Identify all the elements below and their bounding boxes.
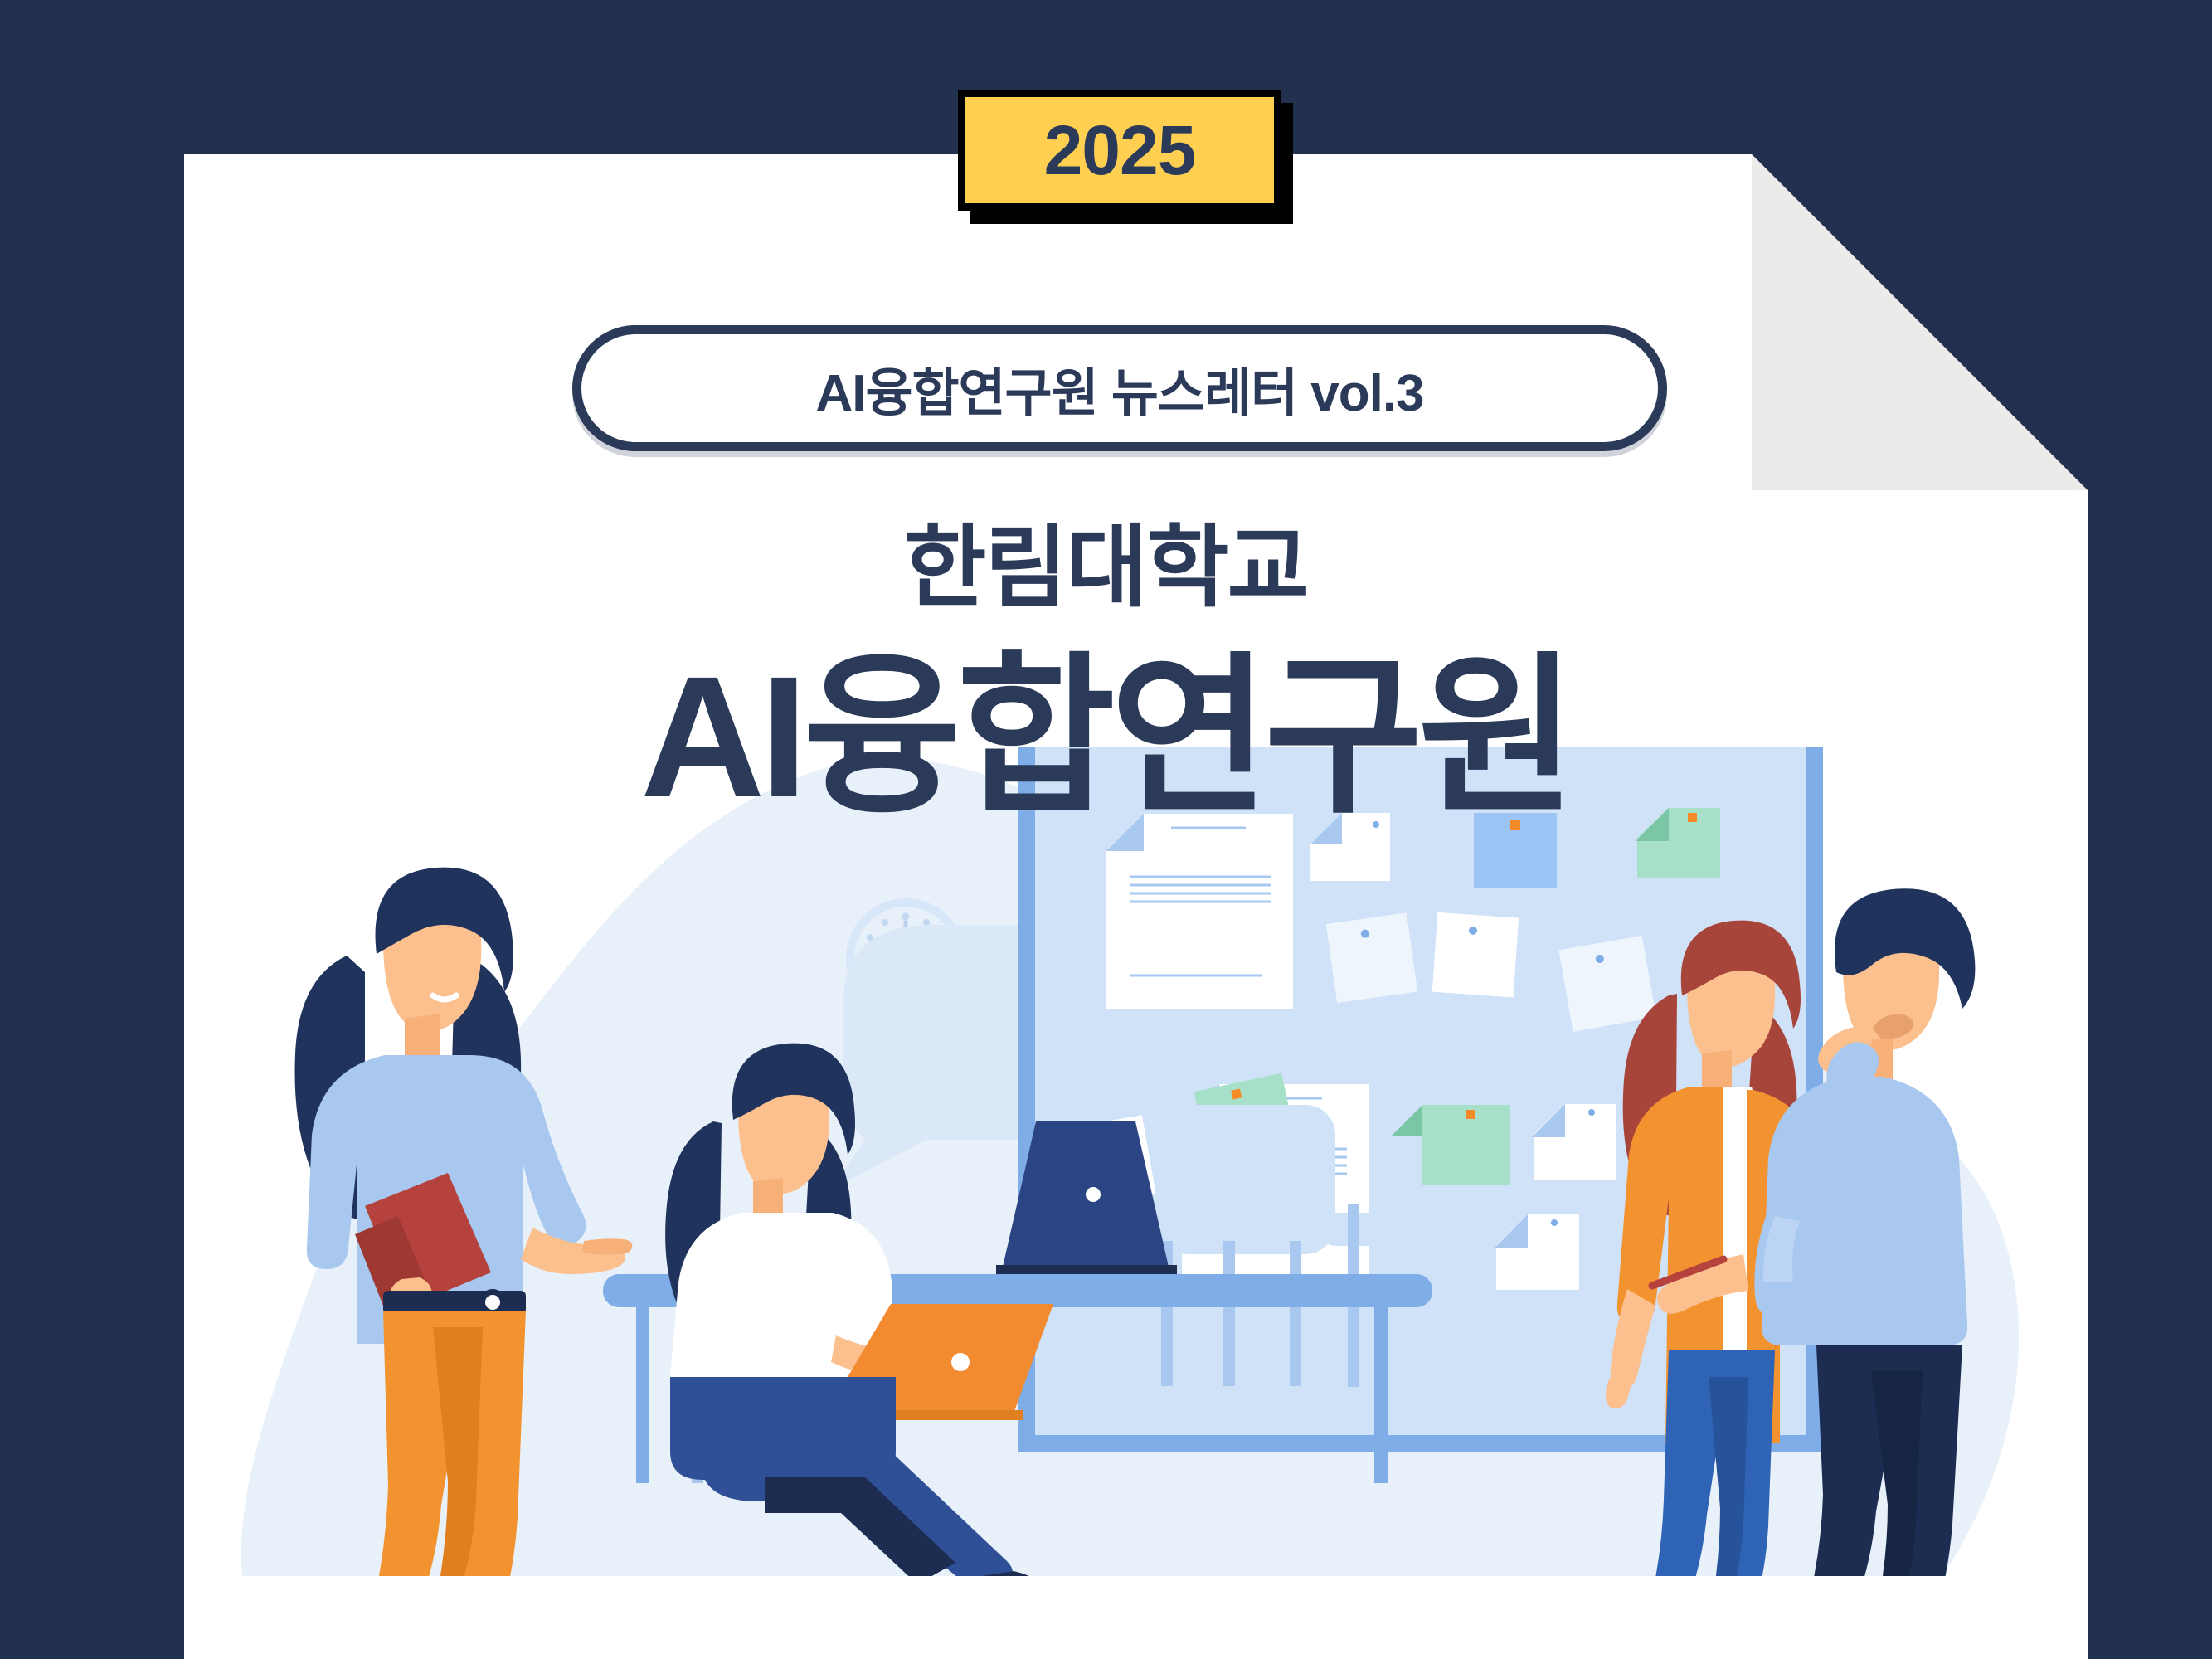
poster-stage: 2025 AI융합연구원 뉴스레터 vol.3 한림대학교 AI융합연구원 [0, 0, 2212, 1659]
university-heading: 한림대학교 [0, 514, 2212, 620]
newsletter-pill-label: AI융합연구원 뉴스레터 vol.3 [815, 351, 1423, 426]
board-document [1106, 814, 1293, 1009]
year-badge-label: 2025 [1044, 115, 1196, 185]
sticky-note [1432, 912, 1519, 998]
sticky-note [1326, 912, 1417, 1003]
office-illustration [184, 747, 2088, 1576]
sticky-note [1558, 936, 1656, 1032]
folded-corner [1752, 154, 2088, 490]
newsletter-pill: AI융합연구원 뉴스레터 vol.3 [572, 325, 1667, 451]
year-badge-box: 2025 [958, 90, 1281, 211]
institute-heading: AI융합연구원 [0, 647, 2212, 828]
year-badge: 2025 [958, 90, 1281, 211]
